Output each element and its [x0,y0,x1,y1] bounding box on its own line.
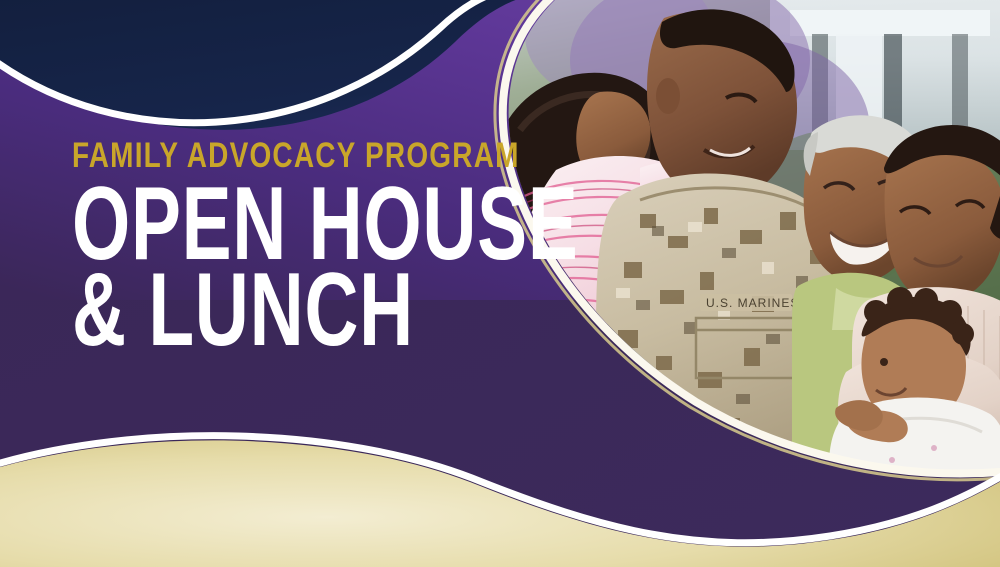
poster-canvas: U.S. MARINES [0,0,1000,567]
poster-artwork: U.S. MARINES [0,0,1000,567]
svg-text:U.S. MARINES: U.S. MARINES [706,296,799,310]
